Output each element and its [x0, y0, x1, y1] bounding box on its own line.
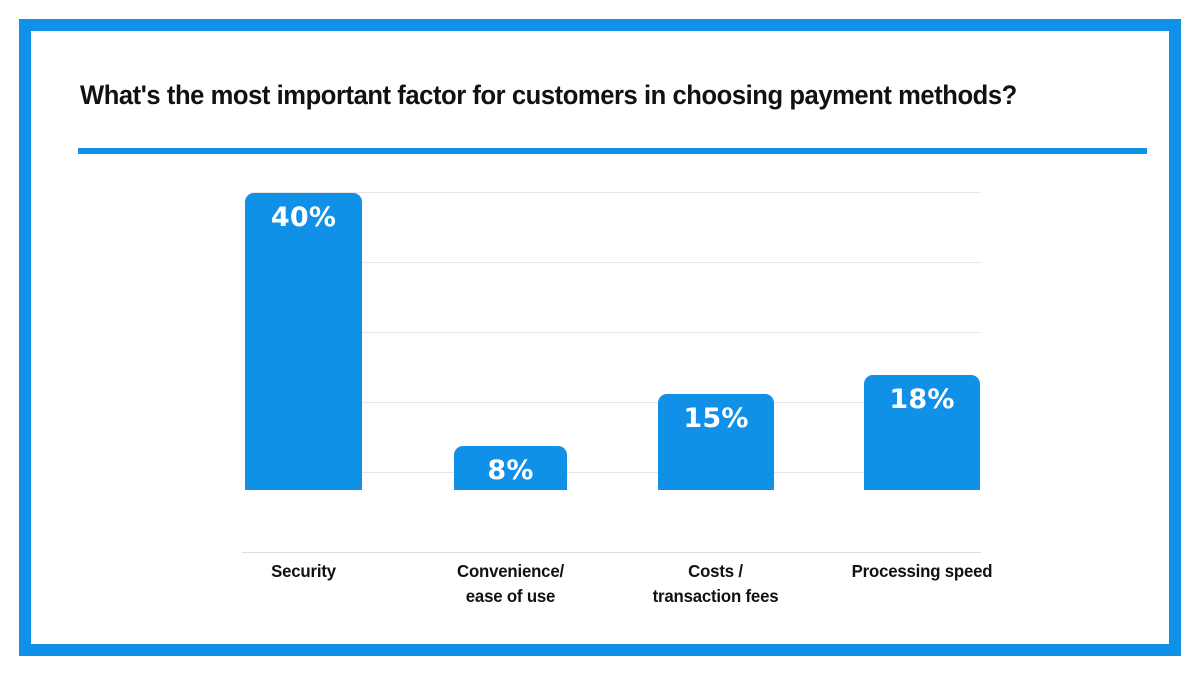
category-label-line: Processing speed: [825, 559, 1019, 584]
category-label-line: Convenience/: [433, 559, 588, 584]
bar-costs[interactable]: 15%: [658, 394, 774, 490]
bar-value-label: 8%: [454, 455, 567, 486]
bar-value-label: 40%: [245, 202, 362, 233]
bar-security[interactable]: 40%: [245, 193, 362, 490]
category-label-processing-speed: Processing speed: [825, 559, 1019, 584]
category-label-line: ease of use: [433, 584, 588, 609]
category-label-line: transaction fees: [626, 584, 806, 609]
gridline: [250, 192, 981, 193]
slide-content: What's the most important factor for cus…: [31, 31, 1169, 644]
bar-processing-speed[interactable]: 18%: [864, 375, 980, 490]
bar-value-label: 18%: [864, 384, 980, 415]
bar-chart: 40% Security 8% Convenience/ ease of use…: [31, 31, 1169, 644]
category-label-line: Costs /: [626, 559, 806, 584]
category-label-security: Security: [229, 559, 378, 584]
axis-baseline: [242, 552, 981, 553]
bar-convenience[interactable]: 8%: [454, 446, 567, 490]
bar-value-label: 15%: [658, 403, 774, 434]
category-label-line: Security: [229, 559, 378, 584]
category-label-costs: Costs / transaction fees: [626, 559, 806, 610]
slide-frame: What's the most important factor for cus…: [19, 19, 1181, 656]
category-label-convenience: Convenience/ ease of use: [433, 559, 588, 610]
